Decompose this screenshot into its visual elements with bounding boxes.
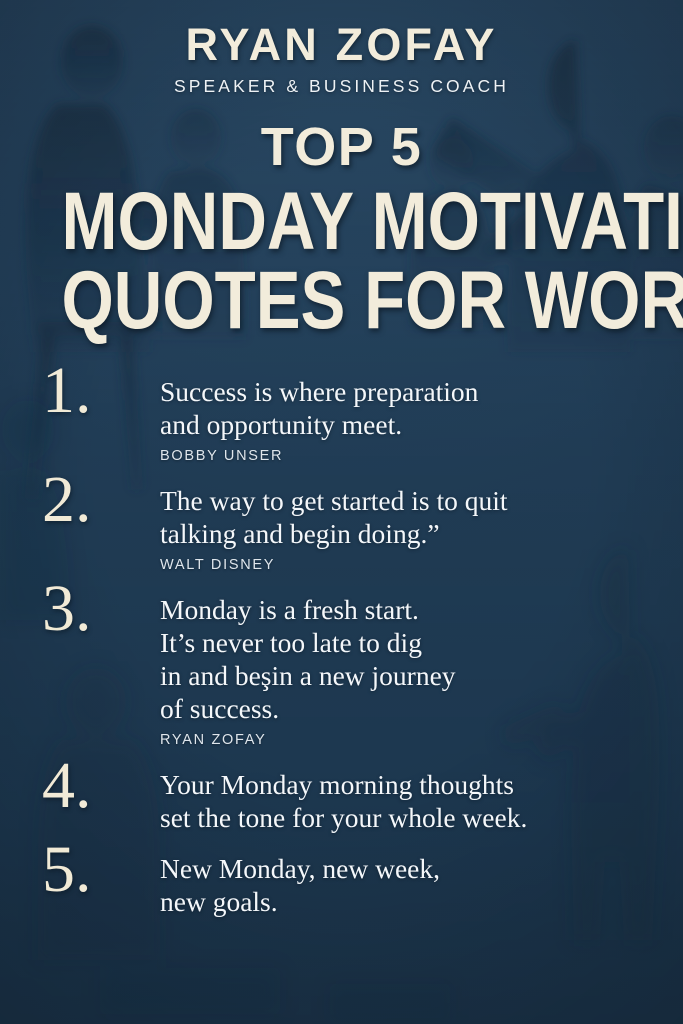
quote-number: 5. <box>34 840 160 901</box>
quote-text: The way to get started is to quit talkin… <box>160 484 653 550</box>
quote-line: of success. <box>160 692 653 725</box>
quote-line: new goals. <box>160 885 653 918</box>
quote-number: 1. <box>34 361 160 422</box>
quote-item: 4. Your Monday morning thoughts set the … <box>34 764 653 834</box>
quote-body: Your Monday morning thoughts set the ton… <box>160 764 653 834</box>
headline-top: TOP 5 <box>0 120 683 174</box>
brand-tagline: SPEAKER & BUSINESS COACH <box>0 78 683 96</box>
quote-line: and opportunity meet. <box>160 408 653 441</box>
quote-line: talking and begin doing.” <box>160 517 653 550</box>
quote-body: Monday is a fresh start. It’s never too … <box>160 589 653 748</box>
quote-number: 3. <box>34 579 160 640</box>
quote-author: RYAN ZOFAY <box>160 732 653 748</box>
quote-number: 4. <box>34 756 160 817</box>
quote-text: New Monday, new week, new goals. <box>160 852 653 918</box>
quote-line: New Monday, new week, <box>160 852 653 885</box>
quote-item: 5. New Monday, new week, new goals. <box>34 848 653 918</box>
quote-body: Success is where preparation and opportu… <box>160 371 653 464</box>
quote-text: Monday is a fresh start. It’s never too … <box>160 593 653 725</box>
brand-header: RYAN ZOFAY SPEAKER & BUSINESS COACH <box>0 0 683 96</box>
headline-line-2: QUOTES FOR WORK <box>61 262 621 340</box>
headline-line-1: MONDAY MOTIVATION <box>61 183 621 261</box>
quote-text: Your Monday morning thoughts set the ton… <box>160 768 653 834</box>
quote-author: BOBBY UNSER <box>160 448 653 464</box>
quote-text: Success is where preparation and opportu… <box>160 375 653 441</box>
quote-line: Your Monday morning thoughts <box>160 768 653 801</box>
quote-body: The way to get started is to quit talkin… <box>160 480 653 573</box>
quote-line: set the tone for your whole week. <box>160 801 653 834</box>
quote-item: 2. The way to get started is to quit tal… <box>34 480 653 573</box>
quote-item: 1. Success is where preparation and oppo… <box>34 371 653 464</box>
poster-root: RYAN ZOFAY SPEAKER & BUSINESS COACH TOP … <box>0 0 683 1024</box>
quotes-list: 1. Success is where preparation and oppo… <box>0 371 683 918</box>
quote-line: The way to get started is to quit <box>160 484 653 517</box>
quote-number: 2. <box>34 470 160 531</box>
quote-line: in and beşin a new journey <box>160 659 653 692</box>
quote-item: 3. Monday is a fresh start. It’s never t… <box>34 589 653 748</box>
quote-line: Monday is a fresh start. <box>160 593 653 626</box>
headline-block: TOP 5 MONDAY MOTIVATION QUOTES FOR WORK <box>0 120 683 341</box>
brand-name: RYAN ZOFAY <box>0 22 683 67</box>
quote-line: It’s never too late to dig <box>160 626 653 659</box>
quote-body: New Monday, new week, new goals. <box>160 848 653 918</box>
quote-line: Success is where preparation <box>160 375 653 408</box>
quote-author: WALT DISNEY <box>160 557 653 573</box>
poster-content: RYAN ZOFAY SPEAKER & BUSINESS COACH TOP … <box>0 0 683 1024</box>
